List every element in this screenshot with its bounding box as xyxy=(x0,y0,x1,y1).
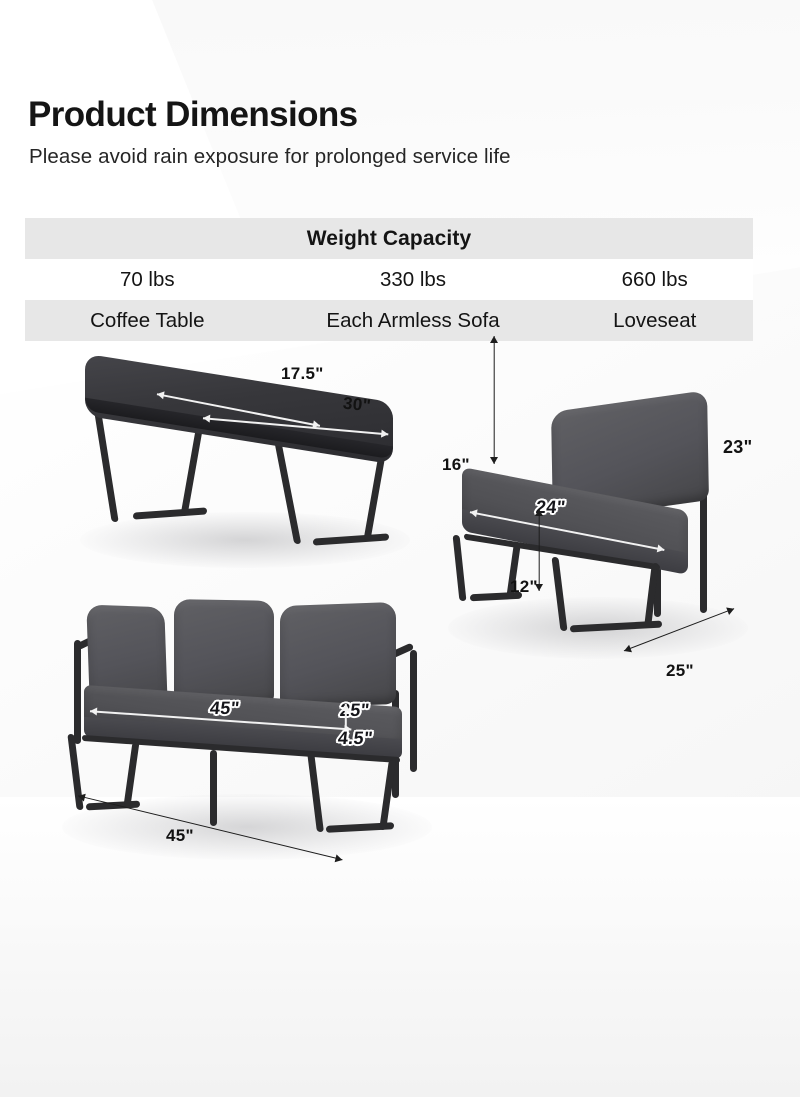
capacity-label-coffee-table: Coffee Table xyxy=(25,309,270,333)
capacity-header-label: Weight Capacity xyxy=(307,227,471,251)
loveseat-leg-center xyxy=(210,750,217,826)
capacity-header-row: Weight Capacity xyxy=(25,218,753,259)
armless-sofa-leg-right-rear xyxy=(551,557,567,631)
loveseat-leg-left-front xyxy=(124,742,140,806)
page-title: Product Dimensions xyxy=(28,96,511,133)
loveseat-foot-left xyxy=(86,801,140,811)
loveseat-frame-left-upright xyxy=(74,640,81,744)
coffee-table-illustration: 17.5" 30" 16" xyxy=(85,360,445,580)
armless-sofa-illustration: 24" 23" 12" 25" xyxy=(448,385,788,685)
page-subtitle: Please avoid rain exposure for prolonged… xyxy=(29,145,511,169)
armless-sofa-seat-height-label: 12" xyxy=(510,577,538,597)
loveseat-leg-left-rear xyxy=(67,734,83,810)
coffee-table-foot-left xyxy=(133,507,207,519)
armless-sofa-depth-label: 25" xyxy=(666,661,694,681)
capacity-value-coffee-table: 70 lbs xyxy=(25,268,270,292)
armless-sofa-depth-arrow xyxy=(624,609,734,651)
coffee-table-width-label: 17.5" xyxy=(281,364,324,384)
capacity-value-loveseat: 660 lbs xyxy=(556,268,753,292)
capacity-labels-row: Coffee Table Each Armless Sofa Loveseat xyxy=(25,300,753,341)
loveseat-overall-width-label: 45" xyxy=(166,826,194,846)
armless-sofa-seat-width-label: 24" xyxy=(535,497,567,518)
coffee-table-foot-right xyxy=(313,533,389,545)
capacity-label-armless-sofa: Each Armless Sofa xyxy=(270,309,557,333)
capacity-label-loveseat: Loveseat xyxy=(556,309,753,333)
coffee-table-depth-label: 30" xyxy=(342,394,372,417)
armless-sofa-leg-left-rear xyxy=(453,535,467,601)
loveseat-seat-depth-label: 25" xyxy=(339,700,371,721)
weight-capacity-table: Weight Capacity 70 lbs 330 lbs 660 lbs C… xyxy=(25,218,753,341)
loveseat-seat-width-label: 45" xyxy=(209,698,241,719)
header: Product Dimensions Please avoid rain exp… xyxy=(28,96,511,169)
loveseat-cushion-thickness-label: 4.5" xyxy=(337,728,374,749)
coffee-table-leg-left-rear xyxy=(94,412,118,522)
loveseat-illustration: 45" 25" 4.5" 45" xyxy=(62,578,452,878)
armless-sofa-back-height-label: 23" xyxy=(723,437,752,458)
loveseat-leg-right-rear xyxy=(307,752,324,832)
capacity-value-armless-sofa: 330 lbs xyxy=(270,268,557,292)
loveseat-frame-right-upright xyxy=(410,650,417,772)
capacity-values-row: 70 lbs 330 lbs 660 lbs xyxy=(25,259,753,300)
loveseat-back-cushion-center xyxy=(174,599,274,705)
loveseat-back-cushion-right xyxy=(280,602,396,708)
